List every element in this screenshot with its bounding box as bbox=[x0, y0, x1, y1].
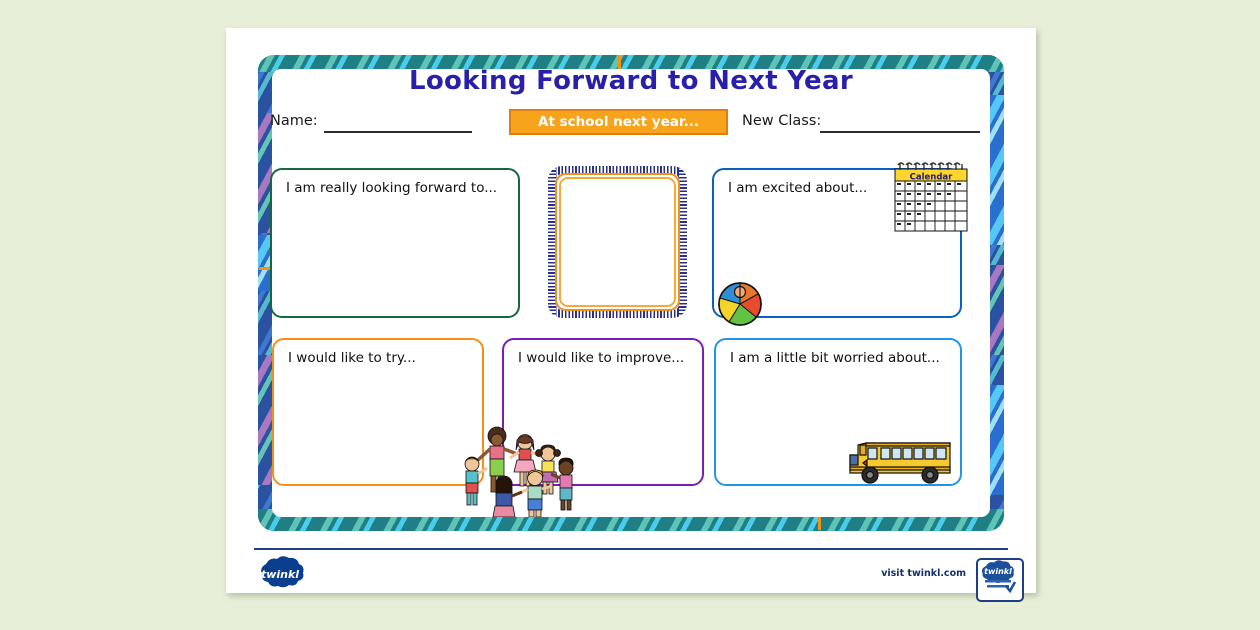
children-holding-hands-icon bbox=[454, 420, 576, 517]
child-7 bbox=[493, 476, 522, 517]
box-caption: I am a little bit worried about... bbox=[730, 349, 948, 367]
box-looking-forward[interactable]: I am really looking forward to... bbox=[270, 168, 520, 318]
twinkl-logo-text: twinkl bbox=[261, 568, 299, 581]
name-label: Name: bbox=[270, 113, 318, 129]
beach-ball-icon bbox=[716, 280, 764, 328]
calendar-icon: Calendar bbox=[886, 161, 976, 239]
box-caption: I would like to try... bbox=[288, 349, 470, 367]
calendar-label: Calendar bbox=[910, 173, 954, 183]
frame-band-right-purple bbox=[988, 265, 1004, 355]
photo-frame-inner-ring bbox=[559, 177, 676, 307]
at-school-next-year-banner: At school next year... bbox=[509, 109, 728, 135]
twinkl-logo[interactable]: twinkl bbox=[254, 556, 306, 592]
new-class-input-line[interactable] bbox=[820, 131, 980, 133]
box-caption: I am really looking forward to... bbox=[286, 179, 506, 197]
school-bus-icon bbox=[836, 433, 958, 488]
twinkl-badge-text: twinkl bbox=[984, 567, 1012, 576]
name-input-line[interactable] bbox=[324, 131, 472, 133]
child-2 bbox=[465, 457, 487, 505]
visit-twinkl-text[interactable]: visit twinkl.com bbox=[881, 568, 966, 579]
box-caption: I would like to improve... bbox=[518, 349, 690, 367]
header-row: Name: At school next year... New Class: bbox=[270, 109, 998, 137]
footer-divider bbox=[254, 548, 1008, 550]
box-like-to-try[interactable]: I would like to try... bbox=[272, 338, 484, 486]
frame-band-right-blue-2 bbox=[988, 385, 1004, 495]
worksheet-page: Looking Forward to Next Year Name: At sc… bbox=[226, 28, 1036, 593]
new-class-label: New Class: bbox=[742, 113, 821, 129]
photo-frame[interactable] bbox=[548, 166, 687, 318]
page-title: Looking Forward to Next Year bbox=[226, 66, 1036, 96]
twinkl-badge-logo: twinkl bbox=[978, 560, 1018, 596]
screenshot-canvas: Looking Forward to Next Year Name: At sc… bbox=[0, 0, 1260, 630]
twinkl-badge[interactable]: twinkl bbox=[976, 558, 1024, 602]
